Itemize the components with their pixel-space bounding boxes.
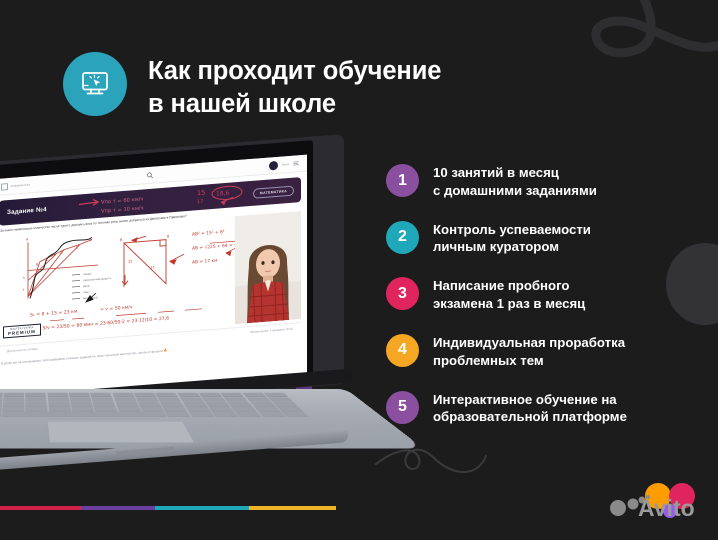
feature-number-badge: 2 (386, 221, 419, 254)
search-icon[interactable] (147, 166, 154, 185)
list-item: 2 Контроль успеваемости личным куратором (386, 220, 686, 257)
feature-number-badge: 3 (386, 277, 419, 310)
feature-number-badge: 4 (386, 334, 419, 367)
feature-number-badge: 5 (386, 391, 419, 424)
browser-user-area: Ольга (269, 159, 299, 170)
svg-text:пеш: пеш (83, 291, 89, 294)
worksheet-area: ABC DEF st поездпроселочная дорога рекап… (0, 211, 301, 343)
page-title: Как проходит обучение в нашей школе (148, 52, 441, 121)
svg-text:проселочная дорога: проселочная дорога (83, 277, 111, 282)
avito-logo: Avito (608, 482, 706, 526)
header: Как проходит обучение в нашей школе (63, 52, 441, 121)
svg-text:B: B (120, 238, 123, 242)
feature-number-badge: 1 (386, 164, 419, 197)
svg-text:A: A (26, 238, 29, 242)
laptop-lid: Информатика Ольга (0, 139, 314, 409)
feature-text: Индивидуальная проработка проблемных тем (433, 333, 625, 370)
svg-text:t = S/v = 23/50 = 60 мин = 23·: t = S/v = 23/50 = 60 мин = 23·60/50·2 = … (34, 316, 169, 333)
svg-text:река: река (83, 285, 90, 289)
svg-text:s: s (23, 276, 25, 280)
svg-text:E: E (76, 246, 78, 250)
svg-text:18,6: 18,6 (216, 190, 230, 198)
avito-wordmark: Avito (638, 495, 695, 521)
premium-badge-main-label: PREMIUM (8, 329, 36, 336)
color-segment-teal (155, 506, 249, 510)
list-item: 3 Написание пробного экзамена 1 раз в ме… (386, 276, 686, 313)
laptop-keyboard-deck (0, 389, 424, 448)
lesson-title: Задание №4 (7, 206, 47, 216)
teacher-video-thumbnail[interactable] (235, 211, 301, 324)
svg-text:17: 17 (150, 266, 155, 270)
hamburger-menu-icon[interactable] (293, 160, 299, 166)
laptop-mockup: Информатика Ольга (0, 146, 386, 476)
laptop-screen: Информатика Ольга (0, 155, 307, 402)
feature-text: 10 занятий в месяц с домашними заданиями (433, 163, 597, 200)
svg-text:t: t (23, 288, 25, 292)
svg-text:15: 15 (128, 260, 133, 264)
features-list: 1 10 занятий в месяц с домашними задания… (386, 163, 686, 426)
svg-text:D: D (60, 251, 63, 255)
feature-text: Контроль успеваемости личным куратором (433, 220, 591, 257)
subject-badge: МАТЕМАТИКА (253, 185, 294, 198)
user-name-label: Ольга (282, 162, 289, 166)
svg-text:Vпр т = 10 км/ч: Vпр т = 10 км/ч (101, 205, 144, 214)
svg-text:F: F (90, 239, 92, 243)
color-segment-red (0, 506, 81, 510)
svg-text:S₁ = 8 + 15 = 23 км: S₁ = 8 + 15 = 23 км (30, 309, 78, 319)
header-icon-badge (63, 52, 127, 116)
list-item: 5 Интерактивное обучение на образователь… (386, 390, 686, 427)
color-segment-purple (81, 506, 155, 510)
feature-text: Написание пробного экзамена 1 раз в меся… (433, 276, 585, 313)
svg-text:17: 17 (197, 199, 203, 205)
svg-text:15: 15 (197, 189, 205, 198)
decorative-loop-top-right (584, 0, 718, 122)
svg-text:8: 8 (167, 235, 170, 239)
svg-text:поезд: поезд (83, 273, 91, 277)
site-logo-label: Информатика (11, 183, 30, 187)
list-item: 4 Индивидуальная проработка проблемных т… (386, 333, 686, 370)
lesson-duration: Длительность: 60 мин (7, 347, 38, 353)
list-item: 1 10 занятий в месяц с домашними задания… (386, 163, 686, 200)
user-avatar-icon[interactable] (269, 160, 278, 170)
slide-root: Как проходит обучение в нашей школе 1 10… (0, 0, 718, 540)
bottom-color-bar (0, 506, 336, 510)
svg-text:AB = 17 км: AB = 17 км (192, 258, 217, 266)
svg-text:Vпо т = 60 км/ч: Vпо т = 60 км/ч (101, 196, 143, 205)
feature-text: Интерактивное обучение на образовательно… (433, 390, 627, 427)
laptop-keyboard[interactable] (0, 393, 308, 417)
svg-text:AB² = 15² + 8²: AB² = 15² + 8² (192, 229, 225, 238)
site-logo-icon (1, 183, 8, 191)
desktop-monitor-cursor-icon (78, 67, 112, 101)
lesson-time: Время урока: 5 февраля 16:00 (250, 327, 293, 334)
color-segment-yellow (249, 506, 336, 510)
laptop-trackpad[interactable] (47, 421, 195, 443)
svg-text:∞ v = 50 км/ч: ∞ v = 50 км/ч (100, 305, 133, 314)
